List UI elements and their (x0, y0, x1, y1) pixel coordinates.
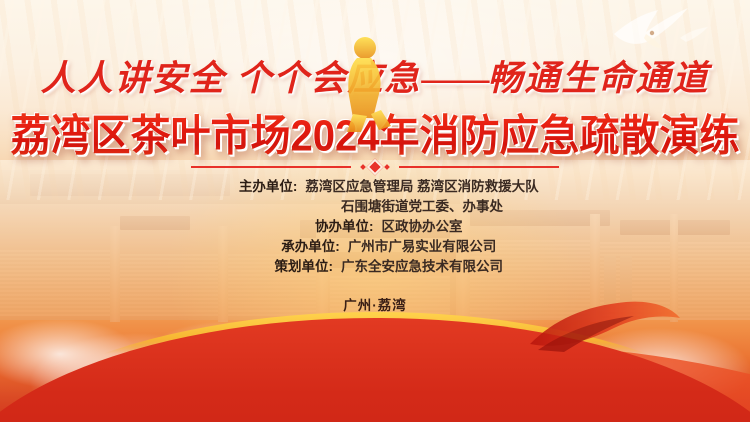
organizer-row: 策划单位: 广东全安应急技术有限公司 (0, 257, 750, 277)
organizer-value: 广东全安应急技术有限公司 (341, 257, 503, 277)
organizer-value: 区政协办公室 (382, 217, 463, 237)
organizer-value: 石围塘街道党工委、办事处 (341, 197, 503, 217)
subtitle-part2: 畅通生命通道 (487, 59, 709, 98)
organizer-row: 承办单位: 广州市广易实业有限公司 (0, 237, 750, 257)
organizer-row: 石围塘街道党工委、办事处 (0, 197, 750, 217)
divider-line-right (399, 166, 559, 168)
organizer-label: 主办单位: (211, 177, 297, 197)
red-flame-wing-icon (530, 300, 680, 356)
organizer-value: 广州市广易实业有限公司 (348, 237, 497, 257)
poster-canvas: 人人讲安全 个个会应急——畅通生命通道 荔湾区茶叶市场2024年消防应急疏散演练… (0, 0, 750, 422)
organizer-label: 协办单位: (288, 217, 374, 237)
divider-line-left (191, 166, 351, 168)
organizer-label: 策划单位: (247, 257, 333, 277)
decorative-divider (0, 158, 750, 176)
organizer-block: 主办单位: 荔湾区应急管理局 荔湾区消防救援大队 石围塘街道党工委、办事处 协办… (0, 177, 750, 277)
diamond-ornament-icon (361, 161, 389, 173)
organizer-label (247, 197, 333, 217)
subtitle-dash: —— (421, 59, 487, 98)
organizer-label: 承办单位: (254, 237, 340, 257)
organizer-row: 主办单位: 荔湾区应急管理局 荔湾区消防救援大队 (0, 177, 750, 197)
running-person-secondary-silhouette-icon (339, 36, 393, 132)
organizer-value: 荔湾区应急管理局 荔湾区消防救援大队 (305, 177, 538, 197)
organizer-row: 协办单位: 区政协办公室 (0, 217, 750, 237)
